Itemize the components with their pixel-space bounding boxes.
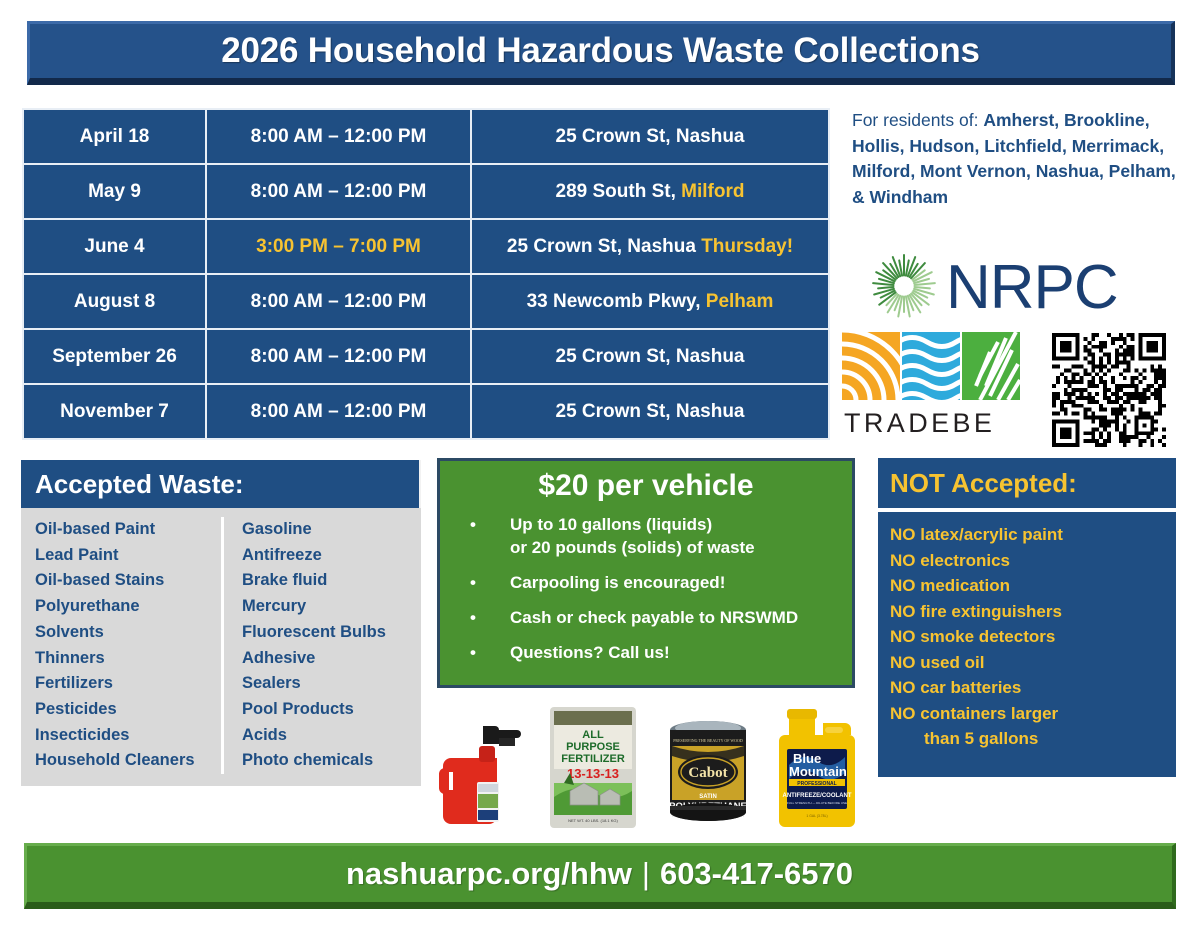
- accepted-waste-item: Brake fluid: [242, 568, 421, 594]
- schedule-time: 8:00 AM – 12:00 PM: [206, 384, 471, 439]
- schedule-date: May 9: [23, 164, 206, 219]
- page-title: 2026 Household Hazardous Waste Collectio…: [221, 31, 980, 71]
- accepted-waste-item: Pool Products: [242, 697, 421, 723]
- accepted-waste-item: Household Cleaners: [35, 748, 221, 774]
- svg-text:1 GAL (3.78L): 1 GAL (3.78L): [806, 814, 827, 818]
- accepted-waste-item: Thinners: [35, 646, 221, 672]
- footer-website[interactable]: nashuarpc.org/hhw: [346, 856, 632, 891]
- table-row: August 88:00 AM – 12:00 PM33 Newcomb Pkw…: [23, 274, 829, 329]
- bullet-glyph-icon: •: [470, 641, 476, 664]
- title-banner: 2026 Household Hazardous Waste Collectio…: [27, 21, 1175, 85]
- tradebe-logo: TRADEBE: [840, 330, 1025, 440]
- not-accepted-item: NO fire extinguishers: [890, 599, 1176, 625]
- accepted-waste-column-left: Oil-based PaintLead PaintOil-based Stain…: [21, 517, 221, 774]
- bullet-glyph-icon: •: [470, 571, 476, 594]
- gas-can-image: [437, 720, 523, 835]
- accepted-waste-item: Lead Paint: [35, 543, 221, 569]
- not-accepted-item: NO containers largerthan 5 gallons: [890, 701, 1176, 752]
- accepted-waste-item: Polyurethane: [35, 594, 221, 620]
- schedule-location: 25 Crown St, Nashua Thursday!: [471, 219, 829, 274]
- fertilizer-line1: ALL: [582, 729, 604, 741]
- schedule-time: 8:00 AM – 12:00 PM: [206, 274, 471, 329]
- accepted-waste-item: Fluorescent Bulbs: [242, 620, 421, 646]
- accepted-waste-item: Pesticides: [35, 697, 221, 723]
- price-title: $20 per vehicle: [450, 469, 842, 503]
- schedule-time: 8:00 AM – 12:00 PM: [206, 164, 471, 219]
- accepted-waste-panel: Accepted Waste: Oil-based PaintLead Pain…: [21, 460, 421, 786]
- table-row: September 268:00 AM – 12:00 PM25 Crown S…: [23, 329, 829, 384]
- nrpc-logo: NRPC: [868, 250, 1138, 322]
- fertilizer-npk: 13-13-13: [567, 766, 619, 781]
- residents-block: For residents of: Amherst, Brookline, Ho…: [852, 108, 1182, 210]
- accepted-waste-item: Sealers: [242, 671, 421, 697]
- not-accepted-item: NO car batteries: [890, 675, 1176, 701]
- price-bullet-item: •Up to 10 gallons (liquids)or 20 pounds …: [460, 513, 842, 559]
- tradebe-leaf-panel: [962, 332, 1020, 400]
- price-bullet-item: •Carpooling is encouraged!: [460, 571, 842, 594]
- not-accepted-panel: NOT Accepted: NO latex/acrylic paintNO e…: [878, 458, 1176, 777]
- schedule-time: 8:00 AM – 12:00 PM: [206, 329, 471, 384]
- not-accepted-body: NO latex/acrylic paintNO electronicsNO m…: [878, 512, 1176, 777]
- not-accepted-item: NO electronics: [890, 548, 1176, 574]
- accepted-waste-item: Insecticides: [35, 723, 221, 749]
- table-row: November 78:00 AM – 12:00 PM25 Crown St,…: [23, 384, 829, 439]
- price-bullet-list: •Up to 10 gallons (liquids)or 20 pounds …: [450, 513, 842, 664]
- paint-can-image: Cabot PRESERVING THE BEAUTY OF WOOD SATI…: [662, 712, 754, 835]
- not-accepted-item: NO smoke detectors: [890, 624, 1176, 650]
- schedule-location: 25 Crown St, Nashua: [471, 329, 829, 384]
- nrpc-burst-icon: [873, 255, 935, 316]
- paint-sub1: SATIN: [700, 794, 718, 800]
- bullet-glyph-icon: •: [470, 513, 476, 536]
- not-accepted-item: NO latex/acrylic paint: [890, 522, 1176, 548]
- accepted-waste-item: Antifreeze: [242, 543, 421, 569]
- accepted-waste-title: Accepted Waste:: [21, 460, 421, 508]
- schedule-location: 33 Newcomb Pkwy, Pelham: [471, 274, 829, 329]
- schedule-location: 25 Crown St, Nashua: [471, 109, 829, 164]
- schedule-date: November 7: [23, 384, 206, 439]
- antifreeze-brand2: Mountain: [789, 764, 847, 779]
- table-row: May 98:00 AM – 12:00 PM289 South St, Mil…: [23, 164, 829, 219]
- accepted-waste-item: Photo chemicals: [242, 748, 421, 774]
- fertilizer-netwt: NET WT. 40 LBS. (18.1 KG): [568, 818, 618, 823]
- qr-code[interactable]: [1052, 333, 1166, 447]
- schedule-date: August 8: [23, 274, 206, 329]
- schedule-date: April 18: [23, 109, 206, 164]
- antifreeze-sub2: ANTIFREEZE/COOLANT: [782, 793, 851, 799]
- schedule-date: September 26: [23, 329, 206, 384]
- not-accepted-item-continuation: than 5 gallons: [890, 726, 1176, 752]
- accepted-waste-body: Oil-based PaintLead PaintOil-based Stain…: [21, 508, 421, 786]
- price-bullet-line2: or 20 pounds (solids) of waste: [510, 536, 842, 559]
- schedule-time: 8:00 AM – 12:00 PM: [206, 109, 471, 164]
- accepted-waste-item: Fertilizers: [35, 671, 221, 697]
- accepted-waste-column-right: GasolineAntifreezeBrake fluidMercuryFluo…: [221, 517, 421, 774]
- collection-schedule-table: April 188:00 AM – 12:00 PM25 Crown St, N…: [22, 108, 830, 440]
- accepted-waste-item: Solvents: [35, 620, 221, 646]
- bullet-glyph-icon: •: [470, 606, 476, 629]
- accepted-waste-item: Adhesive: [242, 646, 421, 672]
- schedule-location: 289 South St, Milford: [471, 164, 829, 219]
- table-row: June 43:00 PM – 7:00 PM25 Crown St, Nash…: [23, 219, 829, 274]
- accepted-waste-item: Oil-based Paint: [35, 517, 221, 543]
- not-accepted-item: NO medication: [890, 573, 1176, 599]
- svg-text:FULL STRENGTH — DILUTE BEFORE: FULL STRENGTH — DILUTE BEFORE USE: [787, 801, 847, 805]
- schedule-time: 3:00 PM – 7:00 PM: [206, 219, 471, 274]
- fertilizer-bag-image: ALL PURPOSE FERTILIZER 13-13-13 NET WT. …: [548, 705, 638, 835]
- footer-banner: nashuarpc.org/hhw|603-417-6570: [24, 843, 1176, 909]
- accepted-waste-item: Mercury: [242, 594, 421, 620]
- accepted-waste-item: Acids: [242, 723, 421, 749]
- tradebe-wordmark: TRADEBE: [844, 408, 995, 438]
- svg-text:PRESERVING THE BEAUTY OF WOOD: PRESERVING THE BEAUTY OF WOOD: [674, 738, 744, 743]
- price-bullet-item: •Questions? Call us!: [460, 641, 842, 664]
- price-bullet-item: •Cash or check payable to NRSWMD: [460, 606, 842, 629]
- antifreeze-sub1: PROFESSIONAL: [797, 781, 836, 787]
- residents-lead: For residents of:: [852, 110, 983, 130]
- not-accepted-item: NO used oil: [890, 650, 1176, 676]
- schedule-location: 25 Crown St, Nashua: [471, 384, 829, 439]
- poster-canvas: 2026 Household Hazardous Waste Collectio…: [0, 0, 1200, 931]
- fertilizer-line3: FERTILIZER: [561, 753, 625, 765]
- antifreeze-jug-image: Blue Mountain PROFESSIONAL ANTIFREEZE/CO…: [779, 705, 855, 835]
- table-row: April 188:00 AM – 12:00 PM25 Crown St, N…: [23, 109, 829, 164]
- accepted-waste-item: Gasoline: [242, 517, 421, 543]
- footer-phone[interactable]: 603-417-6570: [660, 856, 853, 891]
- not-accepted-title: NOT Accepted:: [878, 458, 1176, 508]
- product-image-strip: ALL PURPOSE FERTILIZER 13-13-13 NET WT. …: [437, 700, 855, 835]
- footer-separator: |: [642, 856, 650, 892]
- fertilizer-line2: PURPOSE: [566, 741, 620, 753]
- paint-brand: Cabot: [689, 765, 728, 781]
- schedule-date: June 4: [23, 219, 206, 274]
- svg-text:NRPC: NRPC: [946, 253, 1118, 322]
- footer-contact: nashuarpc.org/hhw|603-417-6570: [346, 856, 853, 892]
- accepted-waste-item: Oil-based Stains: [35, 568, 221, 594]
- price-panel: $20 per vehicle •Up to 10 gallons (liqui…: [437, 458, 855, 688]
